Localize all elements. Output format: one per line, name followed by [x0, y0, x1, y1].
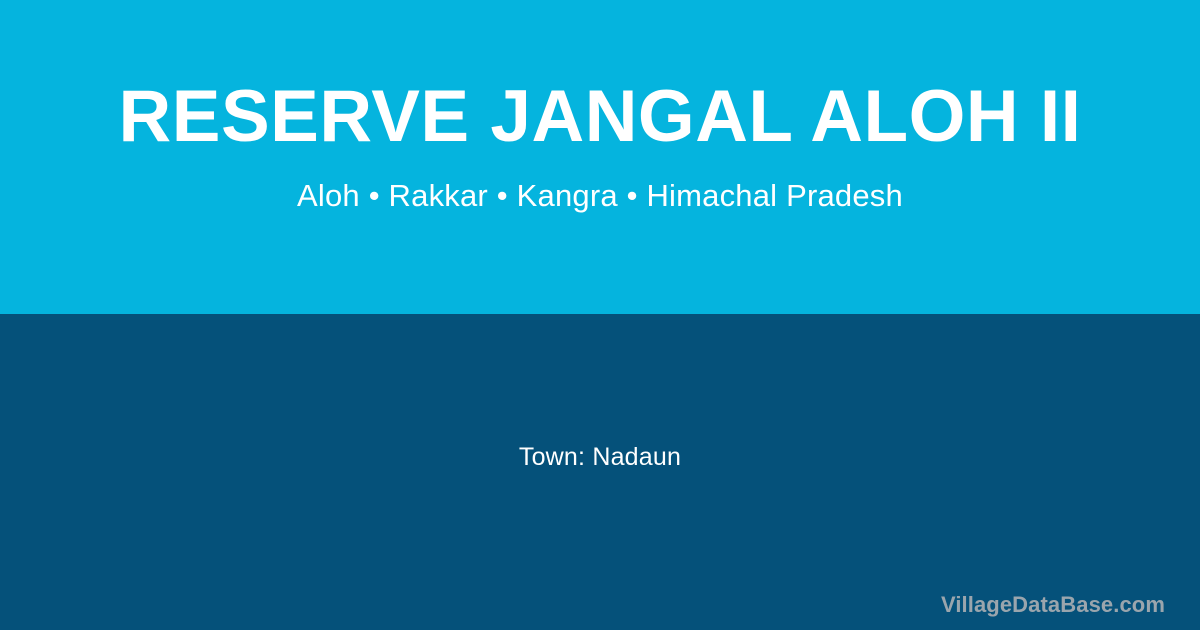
site-watermark: VillageDataBase.com [941, 592, 1165, 618]
location-breadcrumb: Aloh • Rakkar • Kangra • Himachal Prades… [273, 155, 927, 214]
page-title: RESERVE JANGAL ALOH II [95, 78, 1106, 155]
detail-panel: Town: Nadaun VillageDataBase.com [0, 314, 1200, 630]
village-info-card: RESERVE JANGAL ALOH II Aloh • Rakkar • K… [0, 0, 1200, 630]
title-banner: RESERVE JANGAL ALOH II Aloh • Rakkar • K… [0, 0, 1200, 314]
town-detail: Town: Nadaun [519, 443, 681, 472]
